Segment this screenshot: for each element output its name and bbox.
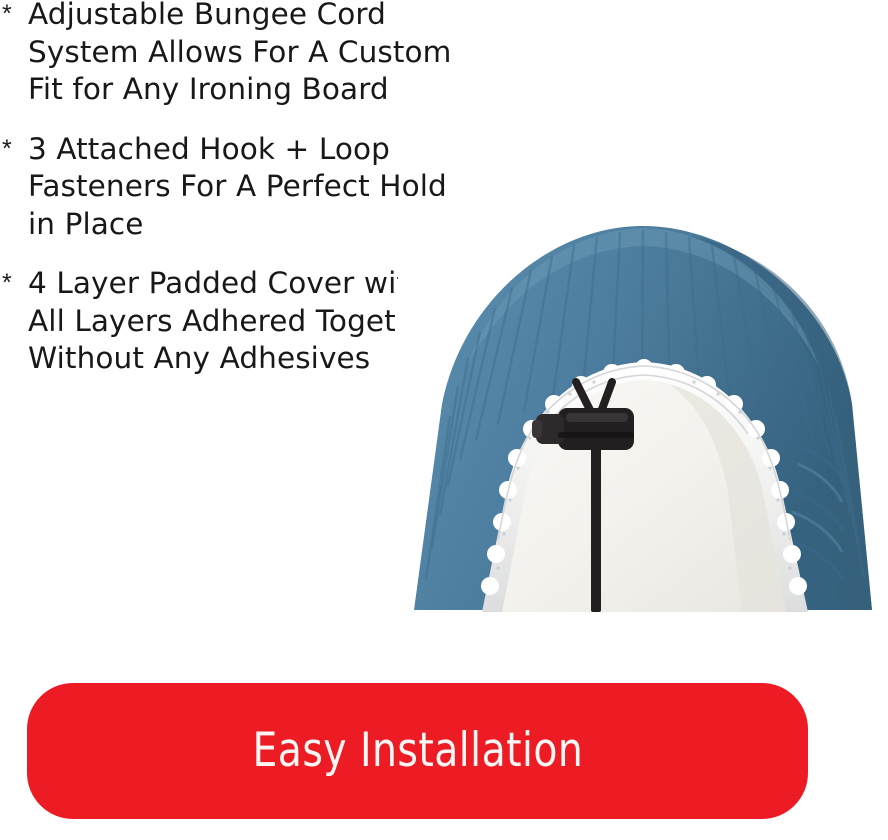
bungee-cord-tail bbox=[591, 422, 601, 612]
bullet-asterisk-icon: * bbox=[0, 265, 28, 302]
bullet-asterisk-icon: * bbox=[0, 131, 28, 168]
easy-installation-banner[interactable]: Easy Installation bbox=[27, 683, 808, 819]
bullet-asterisk-icon: * bbox=[0, 0, 28, 33]
ironing-board-illustration bbox=[398, 196, 888, 612]
black-clip-fastener bbox=[532, 408, 634, 450]
product-feature-page: * Adjustable Bungee Cord System Allows F… bbox=[0, 0, 888, 840]
product-photo bbox=[398, 196, 888, 612]
feature-text: Adjustable Bungee Cord System Allows For… bbox=[28, 0, 470, 109]
banner-label: Easy Installation bbox=[252, 726, 583, 776]
list-item: * Adjustable Bungee Cord System Allows F… bbox=[0, 0, 470, 109]
